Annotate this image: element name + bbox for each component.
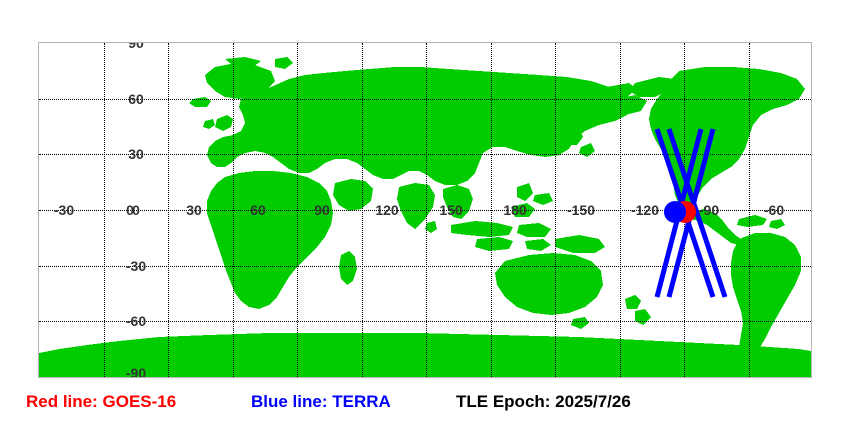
satellite-tracks-layer — [39, 43, 811, 377]
legend-tle-epoch: TLE Epoch: 2025/7/26 — [456, 392, 631, 412]
legend-red-line: Red line: GOES-16 — [26, 392, 176, 412]
world-map-plot: -30 0 30 60 90 120 150 180 -150 -120 -90… — [38, 42, 812, 378]
legend: Red line: GOES-16 Blue line: TERRA TLE E… — [0, 392, 850, 420]
terra-position-marker — [664, 201, 686, 223]
satellite-track-map: -30 0 30 60 90 120 150 180 -150 -120 -90… — [0, 0, 850, 425]
legend-blue-line: Blue line: TERRA — [251, 392, 391, 412]
